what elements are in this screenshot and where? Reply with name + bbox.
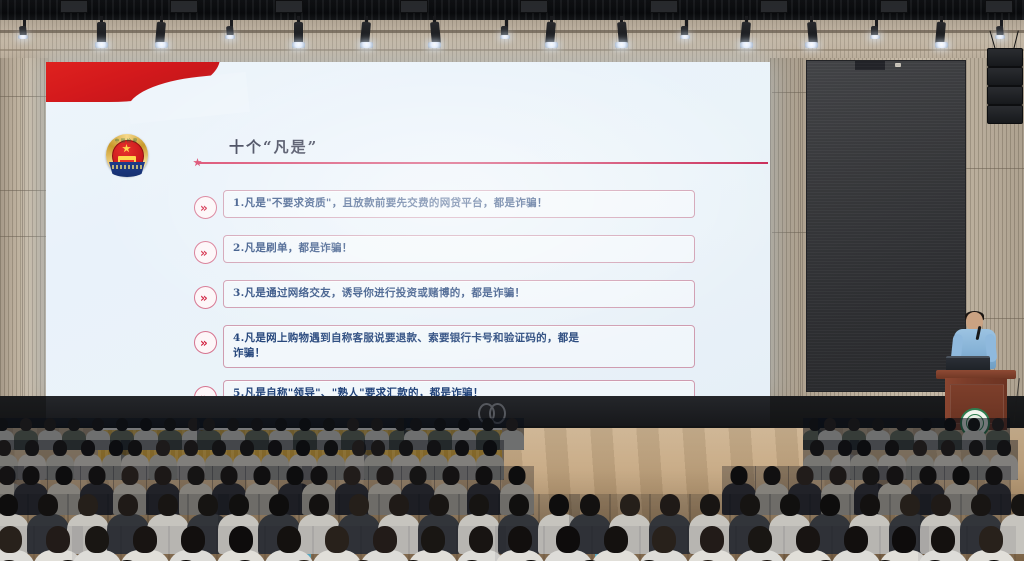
audience-member — [918, 526, 968, 561]
audience-head — [410, 466, 427, 485]
audience-head — [309, 494, 329, 516]
audience-head — [810, 440, 824, 456]
double-chevron-right-icon: » — [194, 241, 217, 264]
audience-head — [240, 440, 254, 456]
bullet-text: 4.凡是网上购物遇到自称客服说要退款、索要银行卡号和验证码的，都是 诈骗！ — [233, 331, 685, 361]
audience-head — [1011, 494, 1024, 516]
audience-head — [275, 418, 287, 431]
light-lens — [18, 35, 28, 39]
audience-head — [953, 466, 970, 485]
light-housing — [807, 22, 818, 45]
audience-head — [371, 440, 385, 456]
audience-head — [25, 440, 39, 456]
audience-head — [373, 526, 397, 553]
bullet-box: 4.凡是网上购物遇到自称客服说要退款、索要银行卡号和验证码的，都是 诈骗！ — [223, 325, 695, 368]
audience-head — [325, 526, 349, 553]
audience-head — [920, 466, 937, 485]
stage-spotlight-icon — [500, 26, 510, 56]
bullet-text: 1.凡是"不要求资质"，且放款前要先交费的网贷平台，都是诈骗！ — [233, 196, 685, 211]
audience-head — [824, 418, 836, 431]
bullet-box: 1.凡是"不要求资质"，且放款前要先交费的网贷平台，都是诈骗！ — [223, 190, 695, 218]
audience-head — [997, 440, 1011, 456]
emblem-wreath — [109, 162, 145, 177]
bullet-box: 2.凡是刷单，都是诈骗！ — [223, 235, 695, 263]
wall-seam-right-vertical — [800, 58, 801, 398]
audience-head — [311, 466, 328, 485]
audience-head — [198, 494, 218, 516]
audience-head — [158, 494, 178, 516]
light-lens — [680, 35, 690, 39]
audience-head — [0, 526, 22, 553]
audience-head — [323, 418, 335, 431]
audience-member — [408, 526, 458, 561]
audience-head — [508, 526, 532, 553]
audience-head — [780, 494, 800, 516]
wall-seam-right-3 — [964, 168, 1024, 169]
audience-head — [399, 440, 413, 456]
stage-spotlight-icon — [292, 22, 305, 52]
audience-head — [78, 494, 98, 516]
audience-head — [944, 418, 956, 431]
light-housing — [360, 22, 371, 45]
speaker-box — [987, 48, 1023, 67]
light-lens — [428, 42, 441, 48]
audience-head — [229, 526, 253, 553]
speaker-box — [987, 67, 1023, 86]
stage-spotlight-icon — [935, 22, 948, 52]
light-lens — [935, 42, 948, 48]
audience-head — [986, 466, 1003, 485]
audience-member — [360, 526, 410, 561]
audience-head — [140, 418, 152, 431]
light-lens — [545, 42, 558, 48]
audience-head — [700, 526, 724, 553]
audience-head — [549, 494, 569, 516]
audience-head — [506, 418, 518, 431]
stage-spotlight-icon — [615, 22, 628, 52]
stage-spotlight-icon — [155, 22, 168, 52]
audience-head — [604, 526, 628, 553]
truss-fixture — [650, 0, 678, 13]
audience-head — [979, 526, 1003, 553]
truss-fixture — [760, 0, 788, 13]
audience-member — [783, 526, 833, 561]
audience-head — [748, 526, 772, 553]
light-lens — [740, 42, 753, 48]
audience-head — [324, 440, 338, 456]
audience-head — [421, 526, 445, 553]
light-lens — [870, 35, 880, 39]
truss-fixture — [520, 0, 548, 13]
light-lens — [95, 42, 108, 48]
audience-head — [429, 494, 449, 516]
light-housing — [294, 22, 303, 44]
light-housing — [740, 22, 751, 45]
audience-head — [299, 418, 311, 431]
audience-head — [556, 526, 580, 553]
audience-head — [887, 466, 904, 485]
light-lens — [615, 42, 628, 48]
audience-head — [764, 466, 781, 485]
audience-head — [277, 526, 301, 553]
audience-head — [116, 418, 128, 431]
audience-head — [580, 494, 600, 516]
audience-head — [620, 494, 640, 516]
audience-head — [509, 466, 526, 485]
stage-spotlight-icon — [545, 22, 558, 52]
audience-member: I DON'T NEED CL — [72, 526, 122, 561]
light-lens — [155, 42, 168, 48]
wall-left — [0, 58, 48, 418]
side-panel-indicator — [895, 63, 901, 67]
stage-spotlight-icon — [428, 22, 441, 52]
audience-head — [458, 418, 470, 431]
slide-bullet-row: » 4.凡是网上购物遇到自称客服说要退款、索要银行卡号和验证码的，都是 诈骗！ — [194, 325, 695, 368]
title-divider-rule — [198, 162, 768, 164]
audience-head — [872, 418, 884, 431]
audience-crowd: I DON'T NEED CLNGLK KEKAhkpl — [0, 392, 1024, 561]
audience-member: NGLK KEK — [312, 526, 362, 561]
audience-head — [181, 526, 205, 553]
emblem-gate-icon — [118, 156, 136, 163]
audience-head — [660, 494, 680, 516]
audience-head — [483, 440, 497, 456]
light-housing — [935, 22, 946, 45]
audience-head — [156, 440, 170, 456]
audience-head — [389, 494, 409, 516]
stage-spotlight-icon — [740, 22, 753, 52]
audience-head — [863, 466, 880, 485]
audience-head — [269, 494, 289, 516]
light-lens — [225, 35, 235, 39]
audience-head — [68, 418, 80, 431]
slide-title: 十个“凡是” — [229, 136, 318, 157]
audience-head — [53, 440, 67, 456]
audience-head — [941, 440, 955, 456]
audience-head — [164, 418, 176, 431]
audience-head — [133, 526, 157, 553]
audience-member — [495, 526, 545, 561]
audience-head — [410, 418, 422, 431]
audience-head — [0, 440, 11, 456]
audience-head — [44, 418, 56, 431]
audience-head — [969, 440, 983, 456]
stage-spotlight-icon — [18, 26, 28, 56]
audience-head — [118, 494, 138, 516]
audience-head — [913, 440, 927, 456]
audience-head — [469, 526, 493, 553]
side-panel-notch — [855, 61, 885, 70]
slide-bullet-row: » 3.凡是通过网络交友，诱导你进行投资或赌博的，都是诈骗！ — [194, 280, 695, 309]
auditorium-scene: 中国检察 十个“凡是” » 1.凡是"不要求资质"，且放款前要先交费的网贷平台，… — [0, 0, 1024, 561]
ceiling-truss-texture — [0, 0, 1024, 22]
audience-head — [203, 418, 215, 431]
double-chevron-right-icon: » — [194, 331, 217, 354]
audience-head — [184, 440, 198, 456]
projection-screen: 中国检察 十个“凡是” » 1.凡是"不要求资质"，且放款前要先交费的网贷平台，… — [46, 62, 770, 396]
national-procuratorate-emblem-icon: 中国检察 — [106, 134, 148, 178]
audience-head — [796, 526, 820, 553]
bullet-text: 3.凡是通过网络交友，诱导你进行投资或赌博的，都是诈骗！ — [233, 286, 685, 301]
audience-head — [287, 466, 304, 485]
truss-fixture — [60, 0, 88, 13]
audience-head — [128, 440, 142, 456]
truss-fixture — [985, 0, 1013, 13]
line-array-speaker — [987, 48, 1021, 130]
audience-head — [268, 440, 282, 456]
audience-head — [122, 466, 139, 485]
light-housing — [617, 22, 628, 45]
audience-head — [740, 494, 760, 516]
audience-head — [700, 494, 720, 516]
audience-head — [81, 440, 95, 456]
speaker-box — [987, 105, 1023, 124]
audience-head — [797, 466, 814, 485]
audience-member: Ahkpl — [543, 526, 593, 561]
truss-fixture — [170, 0, 198, 13]
light-housing — [97, 22, 106, 44]
audience-head — [85, 526, 109, 553]
audience-head — [455, 440, 469, 456]
wall-seam-left-2 — [0, 190, 48, 191]
truss-fixture — [880, 0, 908, 13]
audience-head — [221, 466, 238, 485]
emblem-label: 中国检察 — [114, 136, 140, 145]
stage-spotlight-icon — [225, 26, 235, 56]
double-chevron-right-icon: » — [194, 196, 217, 219]
speaker-box — [987, 86, 1023, 105]
truss-fixture — [275, 0, 303, 13]
audience-head — [212, 440, 226, 456]
audience-head — [251, 418, 263, 431]
stage-spotlight-icon — [95, 22, 108, 52]
audience-member — [216, 526, 266, 561]
audience-head — [482, 418, 494, 431]
audience-head — [731, 466, 748, 485]
audience-head — [89, 466, 106, 485]
audience-member — [264, 526, 314, 561]
wall-seam-left-vertical — [22, 58, 23, 418]
audience-head — [38, 494, 58, 516]
audience-head — [848, 418, 860, 431]
audience-head — [509, 494, 529, 516]
audience-head — [155, 466, 172, 485]
slide-bullet-row: » 1.凡是"不要求资质"，且放款前要先交费的网贷平台，都是诈骗！ — [194, 190, 695, 219]
audience-head — [971, 494, 991, 516]
audience-head — [349, 494, 369, 516]
audience-head — [254, 466, 271, 485]
audience-member — [831, 526, 881, 561]
audience-head — [347, 418, 359, 431]
audience-head — [23, 466, 40, 485]
audience-head — [0, 494, 18, 516]
audience-member — [591, 526, 641, 561]
audience-head — [188, 466, 205, 485]
light-lens — [805, 42, 818, 48]
audience-member — [639, 526, 689, 561]
audience-head — [377, 466, 394, 485]
bullet-text: 2.凡是刷单，都是诈骗！ — [233, 241, 685, 256]
stage-spotlight-icon — [680, 26, 690, 56]
audience-member — [168, 526, 218, 561]
audience-head — [892, 526, 916, 553]
audience-member — [120, 526, 170, 561]
stage-spotlight-icon — [360, 22, 373, 52]
audience-head — [476, 466, 493, 485]
audience-head — [920, 418, 932, 431]
audience-head — [885, 440, 899, 456]
light-lens — [995, 35, 1005, 39]
audience-head — [992, 418, 1004, 431]
audience-head — [434, 418, 446, 431]
audience-head — [443, 466, 460, 485]
stage-spotlight-icon — [805, 22, 818, 52]
audience-head — [968, 418, 980, 431]
audience-head — [652, 526, 676, 553]
slide-red-ribbon — [46, 62, 220, 102]
audience-head — [820, 494, 840, 516]
audience-head — [931, 494, 951, 516]
slide-bullet-row: » 2.凡是刷单，都是诈骗！ — [194, 235, 695, 264]
audience-head — [20, 418, 32, 431]
light-lens — [292, 42, 305, 48]
audience-head — [344, 466, 361, 485]
audience-head — [229, 494, 249, 516]
bullet-box: 3.凡是通过网络交友，诱导你进行投资或赌博的，都是诈骗！ — [223, 280, 695, 308]
audience-head — [900, 494, 920, 516]
audience-head — [931, 526, 955, 553]
audience-head — [296, 440, 310, 456]
light-lens — [360, 42, 373, 48]
audience-head — [56, 466, 73, 485]
audience-head — [371, 418, 383, 431]
audience-member — [0, 526, 35, 561]
audience-member — [735, 526, 785, 561]
light-housing — [430, 22, 441, 45]
audience-head — [857, 440, 871, 456]
audience-head — [860, 494, 880, 516]
audience-head — [469, 494, 489, 516]
stage-spotlight-icon — [870, 26, 880, 56]
light-housing — [545, 22, 556, 45]
light-housing — [155, 22, 166, 45]
audience-head — [46, 526, 70, 553]
audience-head — [427, 440, 441, 456]
audience-head — [227, 418, 239, 431]
light-lens — [500, 35, 510, 39]
audience-head — [844, 526, 868, 553]
audience-member — [966, 526, 1016, 561]
double-chevron-right-icon: » — [194, 286, 217, 309]
truss-fixture — [400, 0, 428, 13]
audience-head — [92, 418, 104, 431]
audience-member — [687, 526, 737, 561]
audience-head — [896, 418, 908, 431]
audience-head — [830, 466, 847, 485]
wall-seam-left-3 — [0, 236, 48, 237]
wall-seam-left-1 — [0, 96, 48, 97]
